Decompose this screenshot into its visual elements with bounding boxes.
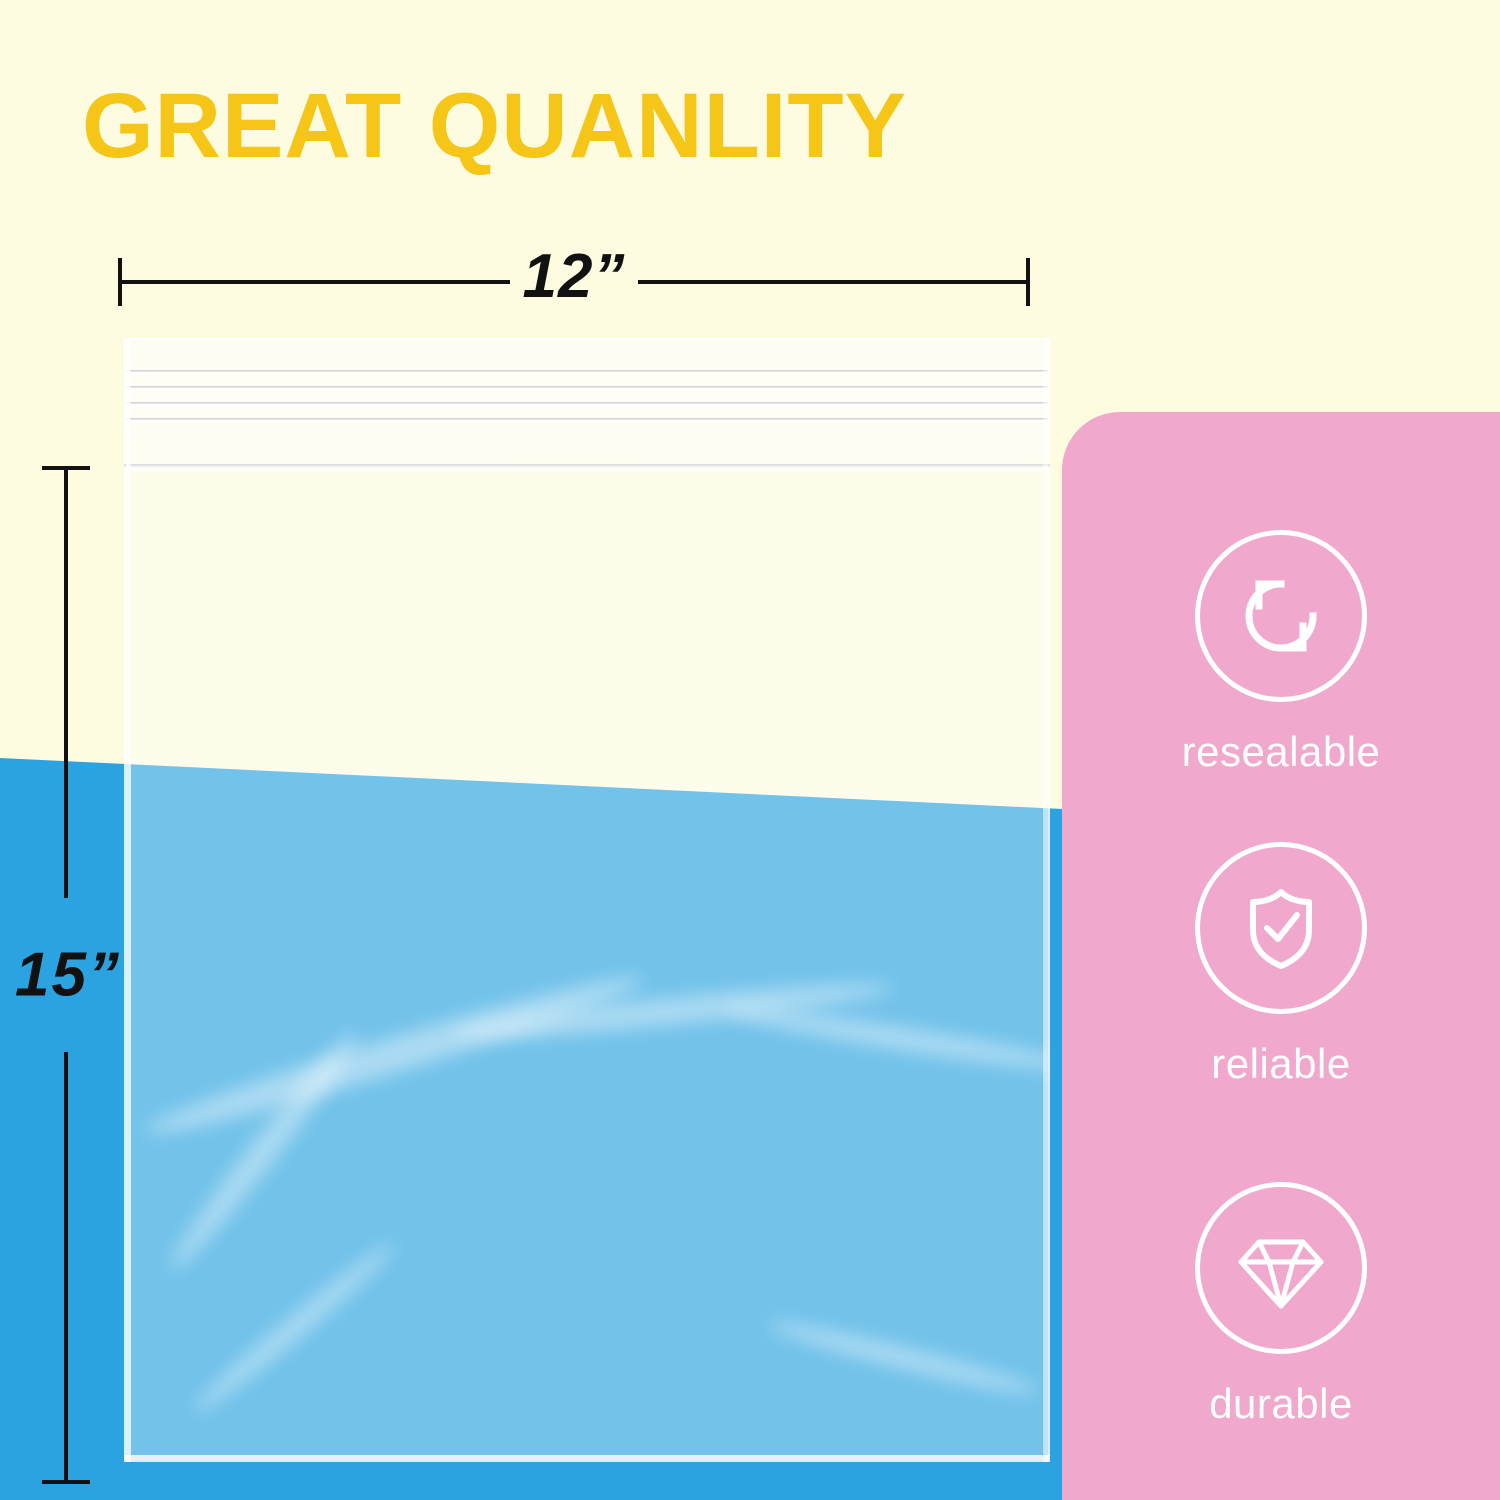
product-bag-image: [124, 338, 1050, 1462]
refresh-cycle-icon: [1195, 530, 1367, 702]
bag-film-body: [124, 338, 1050, 1462]
width-rule-left: [120, 280, 510, 284]
diamond-icon: [1195, 1182, 1367, 1354]
feature-item-durable: durable: [1062, 1182, 1500, 1428]
feature-label: reliable: [1062, 1040, 1500, 1088]
bag-left-edge: [126, 338, 131, 1462]
page-title: GREAT QUANLITY: [82, 78, 907, 175]
feature-panel: resealable reliable durable: [1062, 412, 1500, 1500]
bag-zipper-strip: [124, 338, 1050, 466]
feature-item-resealable: resealable: [1062, 530, 1500, 776]
feature-label: resealable: [1062, 728, 1500, 776]
bag-seal-seam: [124, 464, 1050, 472]
shield-check-icon: [1195, 842, 1367, 1014]
zipper-groove-4: [126, 418, 1048, 423]
height-rule-upper: [64, 468, 68, 898]
zipper-groove-3: [126, 402, 1048, 407]
width-dimension-guide: 12”: [118, 258, 1030, 310]
height-dimension-guide: 15”: [42, 466, 94, 1484]
feature-label: durable: [1062, 1380, 1500, 1428]
feature-item-reliable: reliable: [1062, 842, 1500, 1088]
width-dimension-label: 12”: [523, 241, 626, 312]
height-rule-lower: [64, 1052, 68, 1482]
bag-right-edge: [1043, 338, 1048, 1462]
width-rule-right: [638, 280, 1028, 284]
zipper-groove-2: [126, 386, 1048, 391]
product-infographic: GREAT QUANLITY 12” 15”: [0, 0, 1500, 1500]
height-dimension-label: 15”: [15, 940, 121, 1011]
bag-bottom-edge: [124, 1455, 1050, 1460]
zipper-groove-1: [126, 370, 1048, 375]
